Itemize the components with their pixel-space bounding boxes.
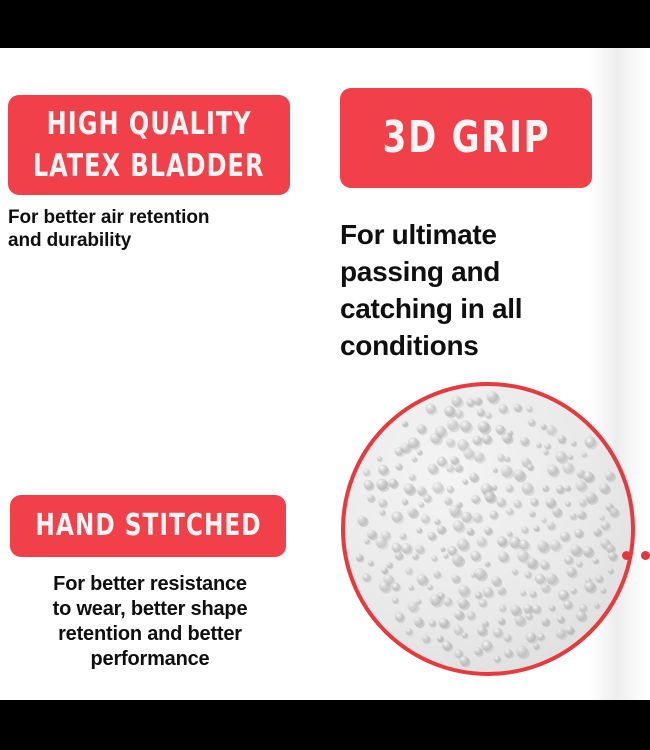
accent-dot <box>622 551 631 560</box>
caption-line: to wear, better shape <box>8 597 292 622</box>
letterbox-bar-top <box>0 0 650 48</box>
texture-circle-outline <box>341 382 635 676</box>
poster-canvas: HIGH QUALITY LATEX BLADDER For better ai… <box>0 48 650 700</box>
badge-3d-grip: 3D GRIP <box>340 88 592 188</box>
caption-line: retention and better <box>8 622 292 647</box>
letterbox-bar-bottom <box>0 700 650 750</box>
grip-texture-closeup <box>341 382 635 676</box>
caption-line: conditions <box>340 327 610 364</box>
caption-hand-stitched: For better resistance to wear, better sh… <box>8 572 292 672</box>
caption-line: catching in all <box>340 290 610 327</box>
caption-3d-grip: For ultimate passing and catching in all… <box>340 216 610 364</box>
accent-dot <box>641 551 650 560</box>
badge-line: LATEX BLADDER <box>33 145 265 187</box>
caption-latex-bladder: For better air retention and durability <box>8 206 288 252</box>
caption-line: performance <box>8 647 292 672</box>
badge-line: HIGH QUALITY <box>46 103 251 145</box>
caption-line: and durability <box>8 229 288 252</box>
badge-hand-stitched: HAND STITCHED <box>10 495 286 557</box>
badge-line: 3D GRIP <box>382 113 550 163</box>
caption-line: For ultimate <box>340 216 610 253</box>
caption-line: For better resistance <box>8 572 292 597</box>
product-feature-poster: HIGH QUALITY LATEX BLADDER For better ai… <box>0 0 650 750</box>
caption-line: passing and <box>340 253 610 290</box>
badge-line: HAND STITCHED <box>35 507 261 545</box>
dimple-texture-icon <box>345 386 631 672</box>
caption-line: For better air retention <box>8 206 288 229</box>
badge-high-quality-latex-bladder: HIGH QUALITY LATEX BLADDER <box>8 95 290 195</box>
